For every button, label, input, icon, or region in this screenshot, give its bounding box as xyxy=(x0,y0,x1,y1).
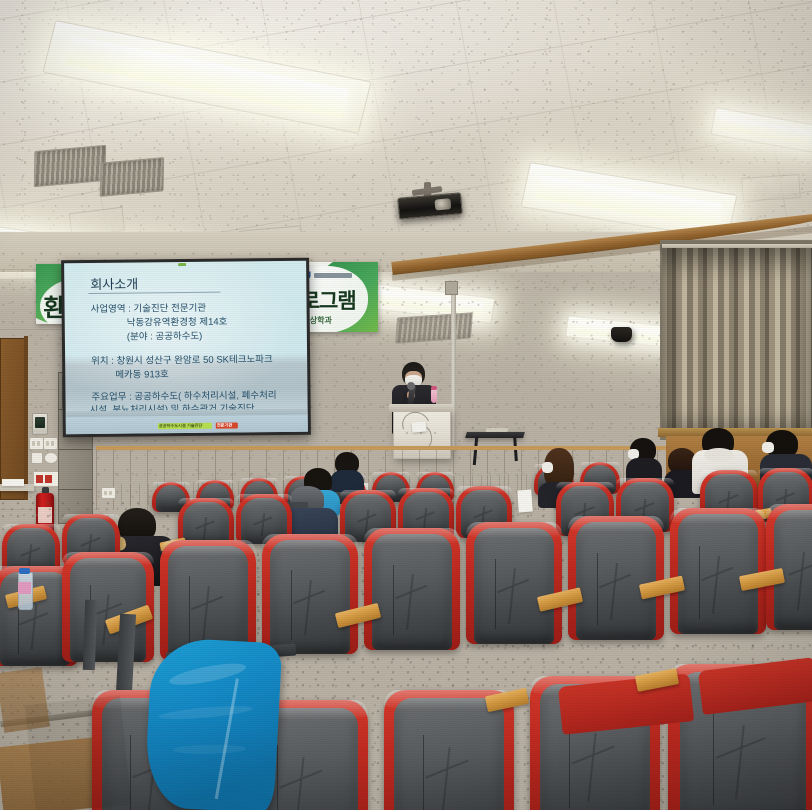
slide-footer-red-text: 전문기관 xyxy=(217,423,232,427)
banner-right-logo-word xyxy=(314,273,352,278)
wall-thermostat[interactable] xyxy=(44,452,58,464)
wall-speaker xyxy=(611,327,632,342)
face-mask xyxy=(542,462,553,473)
hoodie-collar xyxy=(704,448,734,462)
door-frame xyxy=(24,336,28,500)
window-curtain xyxy=(662,248,812,430)
table-item xyxy=(485,428,508,432)
ceiling-tile xyxy=(741,174,801,202)
seat-leg xyxy=(83,600,97,670)
lectern-top-surface xyxy=(389,404,453,412)
paper-handout xyxy=(517,490,533,513)
microphone-head xyxy=(407,382,415,390)
conduit-junction-box xyxy=(445,281,458,295)
projection-screen-frame: 회사소개 사업영역 : 기술진단 전문기관 낙동강유역환경청 제14호 (분야 … xyxy=(61,258,311,438)
wall-conduit-pole xyxy=(451,280,456,450)
paper-handout xyxy=(2,479,24,486)
slide-footer-green-text: 공공하수도시설 기술진단 xyxy=(159,423,203,428)
slide-line-2: 낙동강유역환경청 제14호 xyxy=(127,314,228,329)
aisle-shadow xyxy=(25,695,132,810)
wall-switch[interactable] xyxy=(31,452,43,464)
face-mask xyxy=(762,442,774,453)
wall-outlet xyxy=(43,437,58,450)
auditorium-seat[interactable] xyxy=(766,504,812,630)
slide-title: 회사소개 xyxy=(90,273,138,292)
auditorium-seat[interactable] xyxy=(466,522,562,644)
hvac-vent xyxy=(34,145,106,187)
wall-outlet xyxy=(101,487,116,499)
auditorium-seat[interactable] xyxy=(262,534,358,654)
auditorium-seat[interactable] xyxy=(568,516,664,640)
bottle-cap xyxy=(19,568,30,574)
wall-control-panel xyxy=(32,413,48,435)
slide-line-1: 사업영역 : 기술진단 전문기관 xyxy=(91,300,207,315)
lecture-hall-photo: 환경 U 로그램 경상학과 회사소개 사업영역 : 기술진단 전문기관 낙동강유… xyxy=(0,0,812,810)
wall-outlet xyxy=(29,437,44,450)
draped-blue-jacket xyxy=(144,637,283,810)
auditorium-seat[interactable] xyxy=(364,528,460,650)
fire-safety-sign xyxy=(33,471,59,487)
jacket-zipper xyxy=(215,679,239,800)
presenter-water-bottle xyxy=(431,389,437,403)
slide-line-3: (분야 : 공공하수도) xyxy=(127,328,203,343)
auditorium-seat[interactable] xyxy=(670,508,766,634)
slide-line-5: 메카동 913호 xyxy=(115,366,169,381)
projection-screen: 회사소개 사업영역 : 기술진단 전문기관 낙동강유역환경청 제14호 (분야 … xyxy=(64,261,308,435)
slide-line-4: 위치 : 창원시 성산구 완암로 50 SK테크노파크 xyxy=(91,351,273,367)
slide-top-accent xyxy=(178,263,186,266)
wainscot-top-edge xyxy=(96,446,666,450)
hvac-vent xyxy=(100,157,164,197)
bottle-cap xyxy=(431,386,437,390)
bottle-label xyxy=(18,582,31,594)
